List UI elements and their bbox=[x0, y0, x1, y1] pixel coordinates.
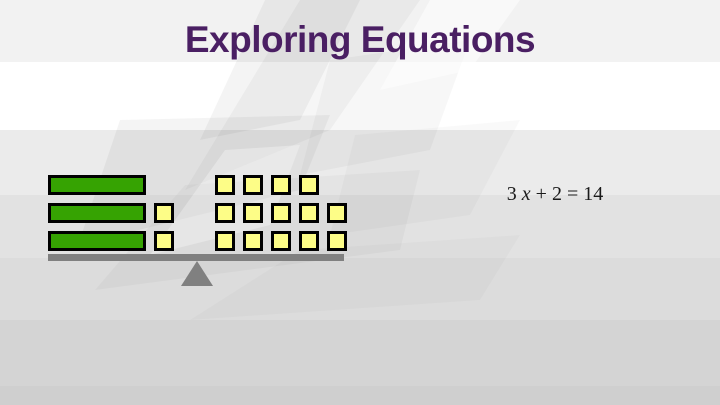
unit-tile[interactable] bbox=[154, 231, 174, 251]
unit-tile[interactable] bbox=[271, 203, 291, 223]
x-tile[interactable] bbox=[48, 231, 146, 251]
fulcrum-triangle-icon bbox=[181, 261, 213, 286]
unit-tile[interactable] bbox=[215, 203, 235, 223]
unit-tile[interactable] bbox=[243, 175, 263, 195]
slide-canvas: Exploring Equations 3 x + 2 = 14 bbox=[0, 0, 720, 405]
balance-beam bbox=[48, 254, 344, 261]
unit-tile[interactable] bbox=[154, 203, 174, 223]
unit-tile[interactable] bbox=[271, 231, 291, 251]
unit-tile[interactable] bbox=[243, 231, 263, 251]
unit-tile[interactable] bbox=[299, 175, 319, 195]
unit-tile[interactable] bbox=[243, 203, 263, 223]
unit-tile[interactable] bbox=[271, 175, 291, 195]
x-tile[interactable] bbox=[48, 203, 146, 223]
unit-tile[interactable] bbox=[215, 175, 235, 195]
x-tile[interactable] bbox=[48, 175, 146, 195]
unit-tile[interactable] bbox=[327, 231, 347, 251]
unit-tile[interactable] bbox=[299, 203, 319, 223]
unit-tile[interactable] bbox=[299, 231, 319, 251]
unit-tile[interactable] bbox=[327, 203, 347, 223]
balance-scale-model bbox=[0, 0, 720, 405]
unit-tile[interactable] bbox=[215, 231, 235, 251]
